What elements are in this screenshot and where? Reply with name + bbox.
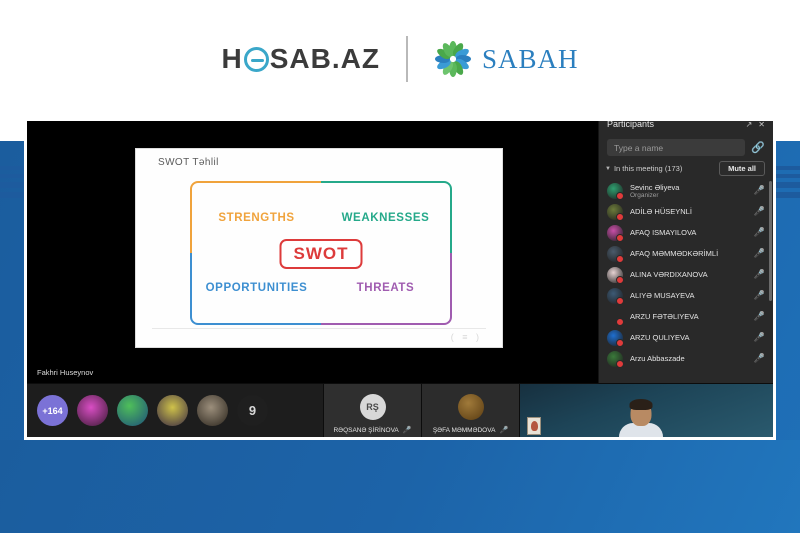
in-meeting-section-header: ▼ In this meeting (173) Mute all [599, 160, 773, 179]
filmstrip-avatar-2[interactable] [77, 395, 108, 426]
video-participant-figure [619, 401, 663, 437]
participant-meta: ADİLƏ HÜSEYNLİ [630, 207, 747, 216]
participant-role: Organizer [630, 192, 747, 199]
participants-scrollbar[interactable] [769, 181, 772, 301]
swot-label-opportunities: OPPORTUNITIES [206, 282, 308, 294]
participant-name: ALIYƏ MUSAYEVA [630, 291, 747, 300]
mic-muted-icon[interactable]: 🎤 [754, 290, 765, 301]
meeting-stage: SWOT Təhlil STRENGTHS WEAKNESSES OPPORTU… [27, 121, 598, 383]
participant-row[interactable]: ARZU QULIYEVA🎤 [599, 327, 773, 348]
avatar [607, 183, 623, 199]
tile-photo-avatar [458, 394, 484, 420]
participant-name: Arzu Abbaszade [630, 354, 747, 363]
mic-muted-icon[interactable]: 🎤 [754, 248, 765, 259]
participants-panel-title: Participants [607, 121, 654, 129]
figure-hair [630, 399, 653, 410]
share-link-icon[interactable]: 🔗 [751, 141, 765, 154]
logo-divider [406, 36, 408, 82]
in-meeting-count-label: In this meeting (173) [614, 164, 682, 173]
presenter-name-label: Fakhri Huseynov [37, 368, 93, 377]
participant-row[interactable]: AFAQ MƏMMƏDKƏRİMLİ🎤 [599, 243, 773, 264]
hesab-az-logo: H SAB.AZ [222, 43, 380, 75]
participant-meta: ALINA VƏRDIXANOVA [630, 270, 747, 279]
avatar [607, 204, 623, 220]
participant-name: ARZU QULIYEVA [630, 333, 747, 342]
avatar [607, 225, 623, 241]
popout-icon[interactable]: ↗ [746, 121, 753, 129]
close-icon[interactable]: ✕ [758, 121, 765, 129]
participant-row[interactable]: ADİLƏ HÜSEYNLİ🎤 [599, 201, 773, 222]
participant-meta: Arzu Abbaszade [630, 354, 747, 363]
tile-initials-avatar: RŞ [360, 394, 386, 420]
overflow-count-badge[interactable]: +164 [37, 395, 68, 426]
sabah-logo-text: SABAH [482, 44, 579, 75]
sabah-flower-icon [434, 40, 472, 78]
participant-meta: ARZU FƏTƏLIYEVA [630, 312, 747, 321]
mic-muted-icon[interactable]: 🎤 [754, 206, 765, 217]
avatar [607, 267, 623, 283]
filmstrip-avatar-5[interactable] [197, 395, 228, 426]
filmstrip-tile-video[interactable] [519, 384, 773, 437]
participants-panel-actions: ↗ ✕ [746, 121, 765, 129]
background-picture-frame [527, 417, 541, 435]
swot-center-label: SWOT [280, 239, 363, 269]
participant-meta: Sevinc ƏliyevaOrganizer [630, 183, 747, 199]
participant-meta: AFAQ ISMAYILOVA [630, 228, 747, 237]
avatar [607, 246, 623, 262]
participant-name: ALINA VƏRDIXANOVA [630, 270, 747, 279]
participant-name: ARZU FƏTƏLIYEVA [630, 312, 747, 321]
search-input[interactable] [607, 139, 745, 156]
filmstrip-tile-initials[interactable]: RŞ RƏQSANƏ ŞİRİNOVA 🎤 [323, 384, 421, 437]
participant-row[interactable]: ALINA VƏRDIXANOVA🎤 [599, 264, 773, 285]
filmstrip-avatar-4[interactable] [157, 395, 188, 426]
filmstrip-avatars: +164 9 [27, 384, 323, 437]
hesab-logo-ring-icon [244, 47, 269, 72]
participant-meta: ALIYƏ MUSAYEVA [630, 291, 747, 300]
participant-meta: AFAQ MƏMMƏDKƏRİMLİ [630, 249, 747, 258]
participant-name: Sevinc Əliyeva [630, 183, 747, 192]
chevron-down-icon[interactable]: ▼ [605, 166, 611, 172]
shared-slide[interactable]: SWOT Təhlil STRENGTHS WEAKNESSES OPPORTU… [135, 148, 503, 348]
avatar [607, 351, 623, 367]
swot-label-threats: THREATS [357, 282, 415, 294]
participant-meta: ARZU QULIYEVA [630, 333, 747, 342]
tile-participant-name: ŞƏFA MƏMMƏDOVA [433, 427, 496, 434]
avatar [607, 330, 623, 346]
mic-muted-icon: 🎤 [499, 426, 508, 434]
mic-muted-icon: 🎤 [403, 426, 412, 434]
mic-muted-icon[interactable]: 🎤 [754, 332, 765, 343]
participants-panel: Participants ↗ ✕ 🔗 ▼ In this meeting (17… [598, 121, 773, 383]
hesab-logo-text-1: H [222, 43, 243, 75]
mic-muted-icon[interactable]: 🎤 [754, 185, 765, 196]
teams-meeting-window: SWOT Təhlil STRENGTHS WEAKNESSES OPPORTU… [24, 118, 776, 440]
participant-name: AFAQ ISMAYILOVA [630, 228, 747, 237]
teams-window-body: SWOT Təhlil STRENGTHS WEAKNESSES OPPORTU… [27, 121, 773, 383]
tile-name-row: RƏQSANƏ ŞİRİNOVA 🎤 [324, 426, 421, 434]
swot-diagram: STRENGTHS WEAKNESSES OPPORTUNITIES THREA… [190, 181, 452, 326]
participant-name: AFAQ MƏMMƏDKƏRİMLİ [630, 249, 747, 258]
participants-search-row: 🔗 [599, 135, 773, 160]
slide-title: SWOT Təhlil [158, 157, 219, 168]
tile-name-row: ŞƏFA MƏMMƏDOVA 🎤 [422, 426, 519, 434]
mic-muted-icon[interactable]: 🎤 [754, 269, 765, 280]
tile-participant-name: RƏQSANƏ ŞİRİNOVA [333, 427, 398, 434]
swot-label-strengths: STRENGTHS [218, 212, 294, 224]
decorative-blue-bottom [0, 440, 800, 533]
sabah-logo: SABAH [434, 40, 579, 78]
participants-panel-header: Participants ↗ ✕ [599, 121, 773, 135]
participant-name: ADİLƏ HÜSEYNLİ [630, 207, 747, 216]
participant-row[interactable]: Arzu Abbaszade🎤 [599, 348, 773, 369]
mic-muted-icon[interactable]: 🎤 [754, 227, 765, 238]
brand-header: H SAB.AZ SABAH [0, 0, 800, 118]
filmstrip-avatar-6[interactable]: 9 [237, 395, 268, 426]
hesab-logo-text-2: SAB.AZ [270, 43, 380, 75]
mic-muted-icon[interactable]: 🎤 [754, 311, 765, 322]
participant-row[interactable]: ALIYƏ MUSAYEVA🎤 [599, 285, 773, 306]
avatar [607, 288, 623, 304]
participants-list[interactable]: Sevinc ƏliyevaOrganizer🎤ADİLƏ HÜSEYNLİ🎤A… [599, 179, 773, 383]
in-meeting-label-group[interactable]: ▼ In this meeting (173) [605, 164, 682, 173]
participant-filmstrip: +164 9 RŞ RƏQSANƏ ŞİRİNOVA 🎤 ŞƏFA MƏMMƏD… [27, 383, 773, 437]
mic-muted-icon[interactable]: 🎤 [754, 353, 765, 364]
filmstrip-avatar-3[interactable] [117, 395, 148, 426]
participant-row[interactable]: Sevinc ƏliyevaOrganizer🎤 [599, 180, 773, 201]
swot-label-weaknesses: WEAKNESSES [342, 212, 430, 224]
slide-footer-divider [152, 328, 486, 329]
participant-row[interactable]: ARZU FƏTƏLIYEVA🎤 [599, 306, 773, 327]
slide-nav-controls[interactable]: ( ≡ ) [451, 332, 482, 342]
participant-row[interactable]: AFAQ ISMAYILOVA🎤 [599, 222, 773, 243]
avatar [607, 309, 623, 325]
mute-all-button[interactable]: Mute all [719, 161, 765, 176]
filmstrip-tile-photo[interactable]: ŞƏFA MƏMMƏDOVA 🎤 [421, 384, 519, 437]
